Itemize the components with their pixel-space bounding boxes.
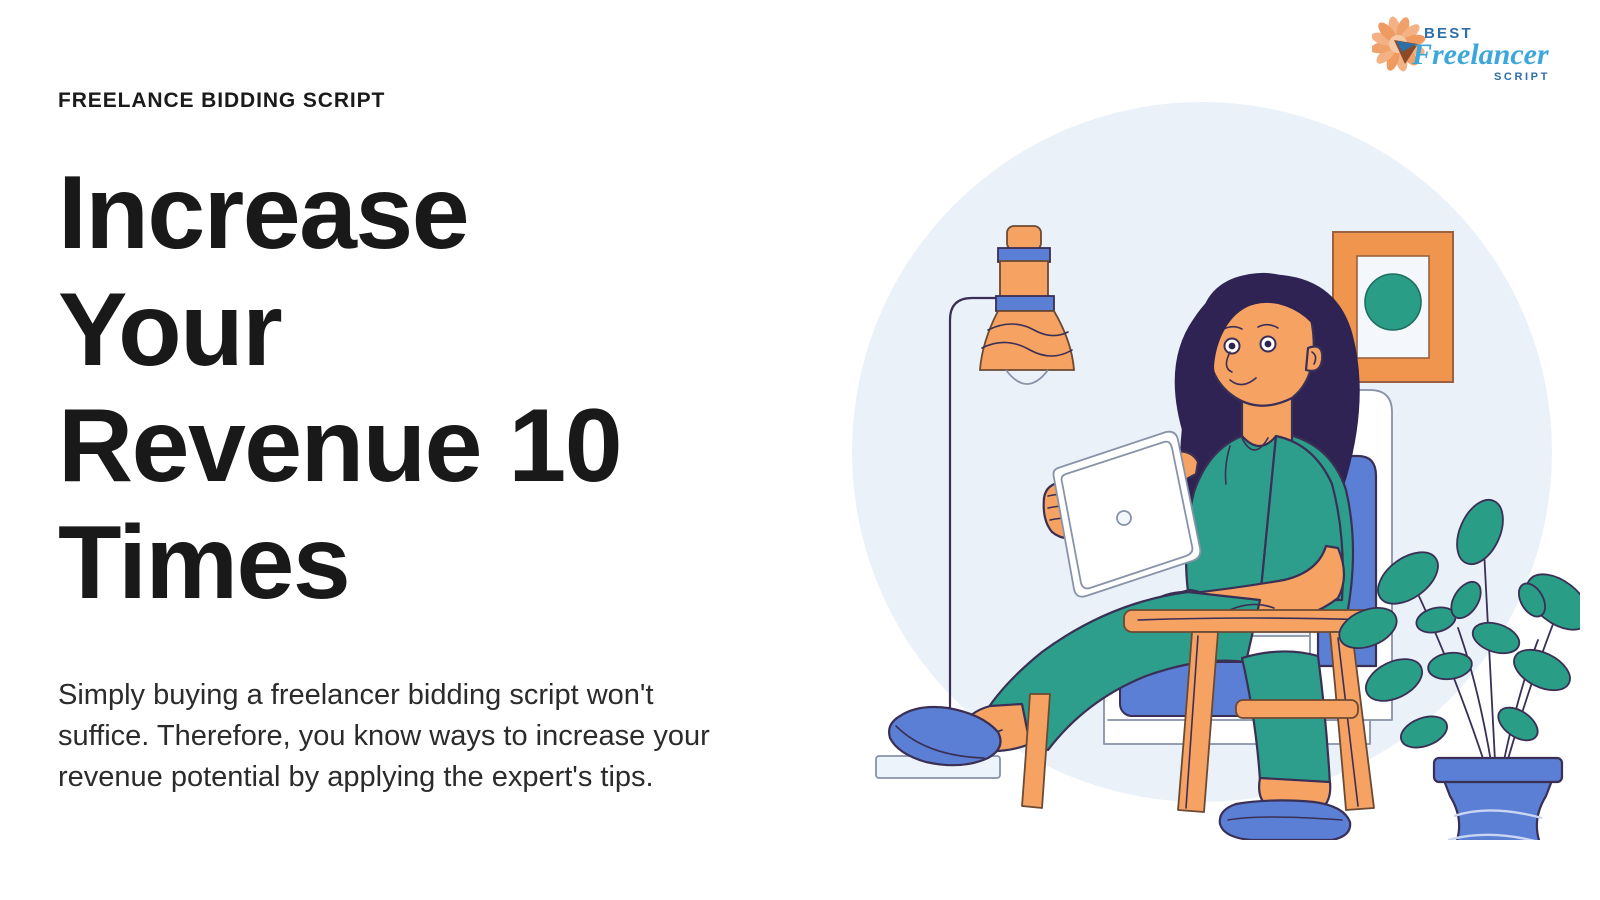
- tablet-home-button: [1117, 511, 1131, 525]
- hero-description: Simply buying a freelancer bidding scrip…: [58, 675, 748, 799]
- slipper-right: [1220, 800, 1350, 840]
- hero-banner: BEST Freelancer SCRIPT FREELANCE BIDDING…: [0, 0, 1600, 900]
- logo-word-main: Freelancer: [1411, 38, 1549, 71]
- page-title: Increase Your Revenue 10 Times: [58, 155, 678, 621]
- plant-pot: [1434, 758, 1562, 840]
- chair-stretcher: [1236, 700, 1358, 718]
- eyebrow-label: FREELANCE BIDDING SCRIPT: [58, 88, 758, 113]
- hero-copy: FREELANCE BIDDING SCRIPT Increase Your R…: [58, 88, 758, 799]
- hero-illustration: .ol { fill:none; stroke:#3A2F55; stroke-…: [790, 80, 1580, 840]
- brand-logo[interactable]: BEST Freelancer SCRIPT: [1372, 14, 1552, 86]
- raised-foot: [889, 704, 1030, 765]
